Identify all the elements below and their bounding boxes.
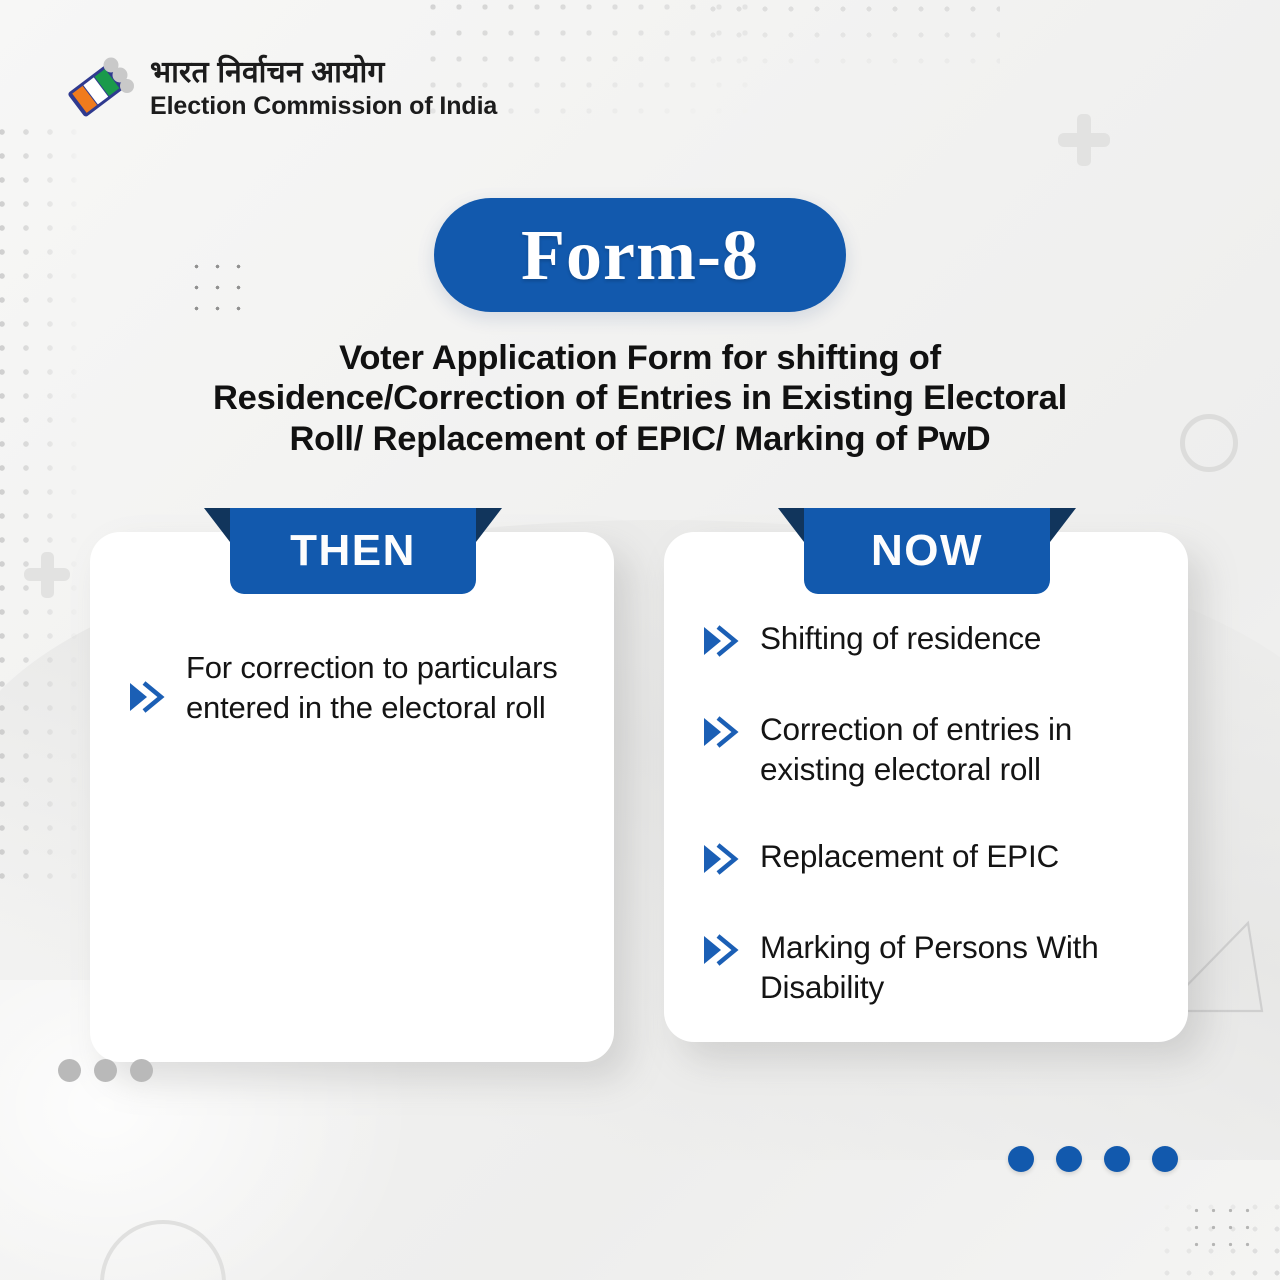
gray-dot — [130, 1059, 153, 1082]
brand-header: भारत निर्वाचन आयोग Election Commission o… — [62, 52, 497, 124]
double-chevron-icon — [702, 624, 742, 663]
eci-logo-icon — [62, 52, 134, 124]
circle-outline-bottom-left-icon — [100, 1220, 226, 1280]
list-item: Marking of Persons With Disability — [702, 927, 1154, 1008]
list-item: Replacement of EPIC — [702, 836, 1154, 881]
now-ribbon: NOW — [804, 508, 1050, 594]
double-chevron-icon — [702, 842, 742, 881]
pager-dot-group — [1008, 1146, 1178, 1172]
then-card: THEN For correction to particulars enter… — [90, 532, 614, 1062]
then-ribbon: THEN — [230, 508, 476, 594]
list-item: Shifting of residence — [702, 618, 1154, 663]
list-item-label: For correction to particulars entered in… — [186, 648, 580, 727]
list-item: For correction to particulars entered in… — [128, 648, 580, 727]
halftone-dots-bottom-right — [1156, 1196, 1280, 1280]
circle-outline-icon — [1180, 414, 1238, 472]
comparison-section: THEN For correction to particulars enter… — [0, 532, 1280, 1072]
then-heading: THEN — [290, 529, 416, 573]
then-list: For correction to particulars entered in… — [128, 648, 580, 727]
list-item-label: Replacement of EPIC — [760, 836, 1059, 876]
now-card-body: Shifting of residence Correction of entr… — [664, 618, 1188, 1007]
gray-dot — [94, 1059, 117, 1082]
pager-dot — [1104, 1146, 1130, 1172]
pager-dot — [1008, 1146, 1034, 1172]
then-card-body: For correction to particulars entered in… — [90, 618, 614, 727]
form-badge-label: Form-8 — [521, 219, 759, 291]
double-chevron-icon — [702, 715, 742, 754]
list-item-label: Marking of Persons With Disability — [760, 927, 1154, 1008]
halftone-dots-top-right — [700, 0, 1000, 86]
gray-dot-group — [58, 1059, 153, 1082]
now-list: Shifting of residence Correction of entr… — [702, 618, 1154, 1007]
pager-dot — [1056, 1146, 1082, 1172]
gray-dot — [58, 1059, 81, 1082]
infographic-poster: भारत निर्वाचन आयोग Election Commission o… — [0, 0, 1280, 1280]
pager-dot — [1152, 1146, 1178, 1172]
form-badge: Form-8 — [434, 198, 846, 312]
plus-shape-icon — [1058, 133, 1110, 147]
list-item: Correction of entries in existing electo… — [702, 709, 1154, 790]
now-heading: NOW — [871, 529, 983, 573]
double-chevron-icon — [128, 680, 168, 719]
list-item-label: Shifting of residence — [760, 618, 1041, 658]
org-name-english: Election Commission of India — [150, 92, 497, 120]
dot-grid-icon — [186, 256, 252, 322]
double-chevron-icon — [702, 933, 742, 972]
dot-grid-bottom-right-icon — [1188, 1202, 1258, 1252]
org-name-hindi: भारत निर्वाचन आयोग — [150, 56, 497, 90]
now-card: NOW Shifting of residence — [664, 532, 1188, 1042]
page-subtitle: Voter Application Form for shifting of R… — [180, 338, 1100, 459]
list-item-label: Correction of entries in existing electo… — [760, 709, 1154, 790]
